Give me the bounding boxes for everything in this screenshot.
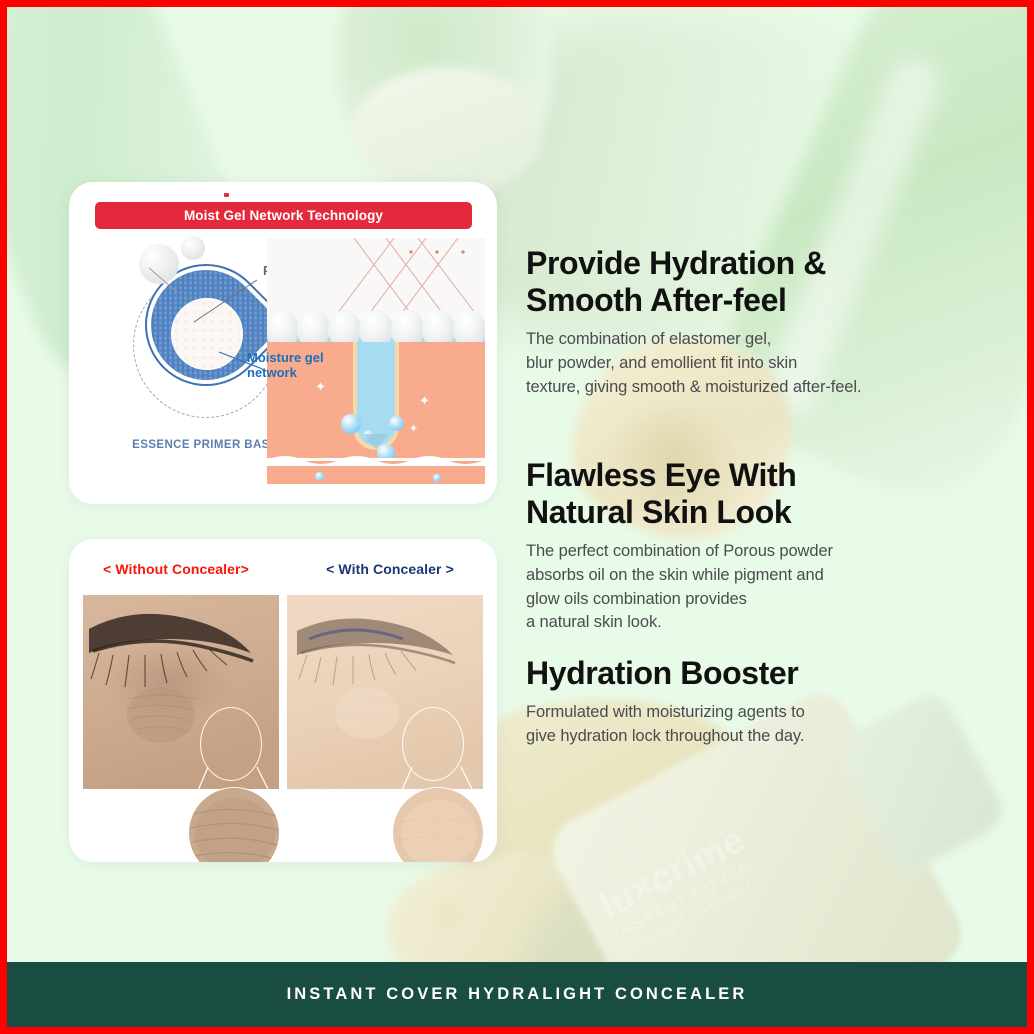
background-cream-droplet (435, 902, 461, 928)
feature-title: Hydration Booster (526, 655, 805, 692)
absorption-arrow-icon (363, 434, 389, 449)
zoom-circle-small-right (402, 707, 464, 781)
gel-bubble (315, 472, 324, 481)
feature-body: The perfect combination of Porous powder… (526, 540, 833, 635)
feature-body: The combination of elastomer gel, blur p… (526, 328, 861, 399)
feature-block-flawless-eye: Flawless Eye With Natural Skin Look The … (526, 457, 833, 635)
feature-title: Provide Hydration & Smooth After-feel (526, 245, 861, 319)
sparkle-icon: ✦ (315, 380, 326, 393)
feature-block-hydration: Provide Hydration & Smooth After-feel Th… (526, 245, 861, 399)
gel-bubble (433, 474, 441, 482)
gel-bubble (341, 414, 361, 434)
decorative-speck (224, 193, 229, 197)
tech-banner: Moist Gel Network Technology (95, 202, 472, 229)
moisture-gel-network-label: Moisture gel network (247, 350, 324, 381)
background-product-photo: lu×crime INSTANT COVER Hydralight Concea… (7, 7, 1027, 1027)
feature-body: Formulated with moisturizing agents to g… (526, 701, 805, 749)
technology-card: Moist Gel Network Technology ESSENCE PRI… (69, 182, 497, 504)
gel-bubble (389, 416, 404, 431)
sparkle-icon: ✦ (409, 424, 418, 435)
footer-banner: INSTANT COVER HYDRALIGHT CONCEALER (7, 962, 1027, 1027)
footer-product-name: INSTANT COVER HYDRALIGHT CONCEALER (287, 985, 748, 1004)
feature-title: Flawless Eye With Natural Skin Look (526, 457, 833, 531)
moist-gel-diagram: ESSENCE PRIMER BASE POWDER (69, 240, 497, 504)
comparison-card: < Without Concealer> < With Concealer > (69, 539, 497, 862)
background-cap-ring (352, 67, 542, 197)
page-canvas: lu×crime INSTANT COVER Hydralight Concea… (7, 7, 1027, 1027)
zoom-circle-small-left (200, 707, 262, 781)
sparkle-icon: ✦ (419, 394, 430, 407)
skin-base-wave (267, 452, 485, 466)
feature-block-hydration-booster: Hydration Booster Formulated with moistu… (526, 655, 805, 749)
